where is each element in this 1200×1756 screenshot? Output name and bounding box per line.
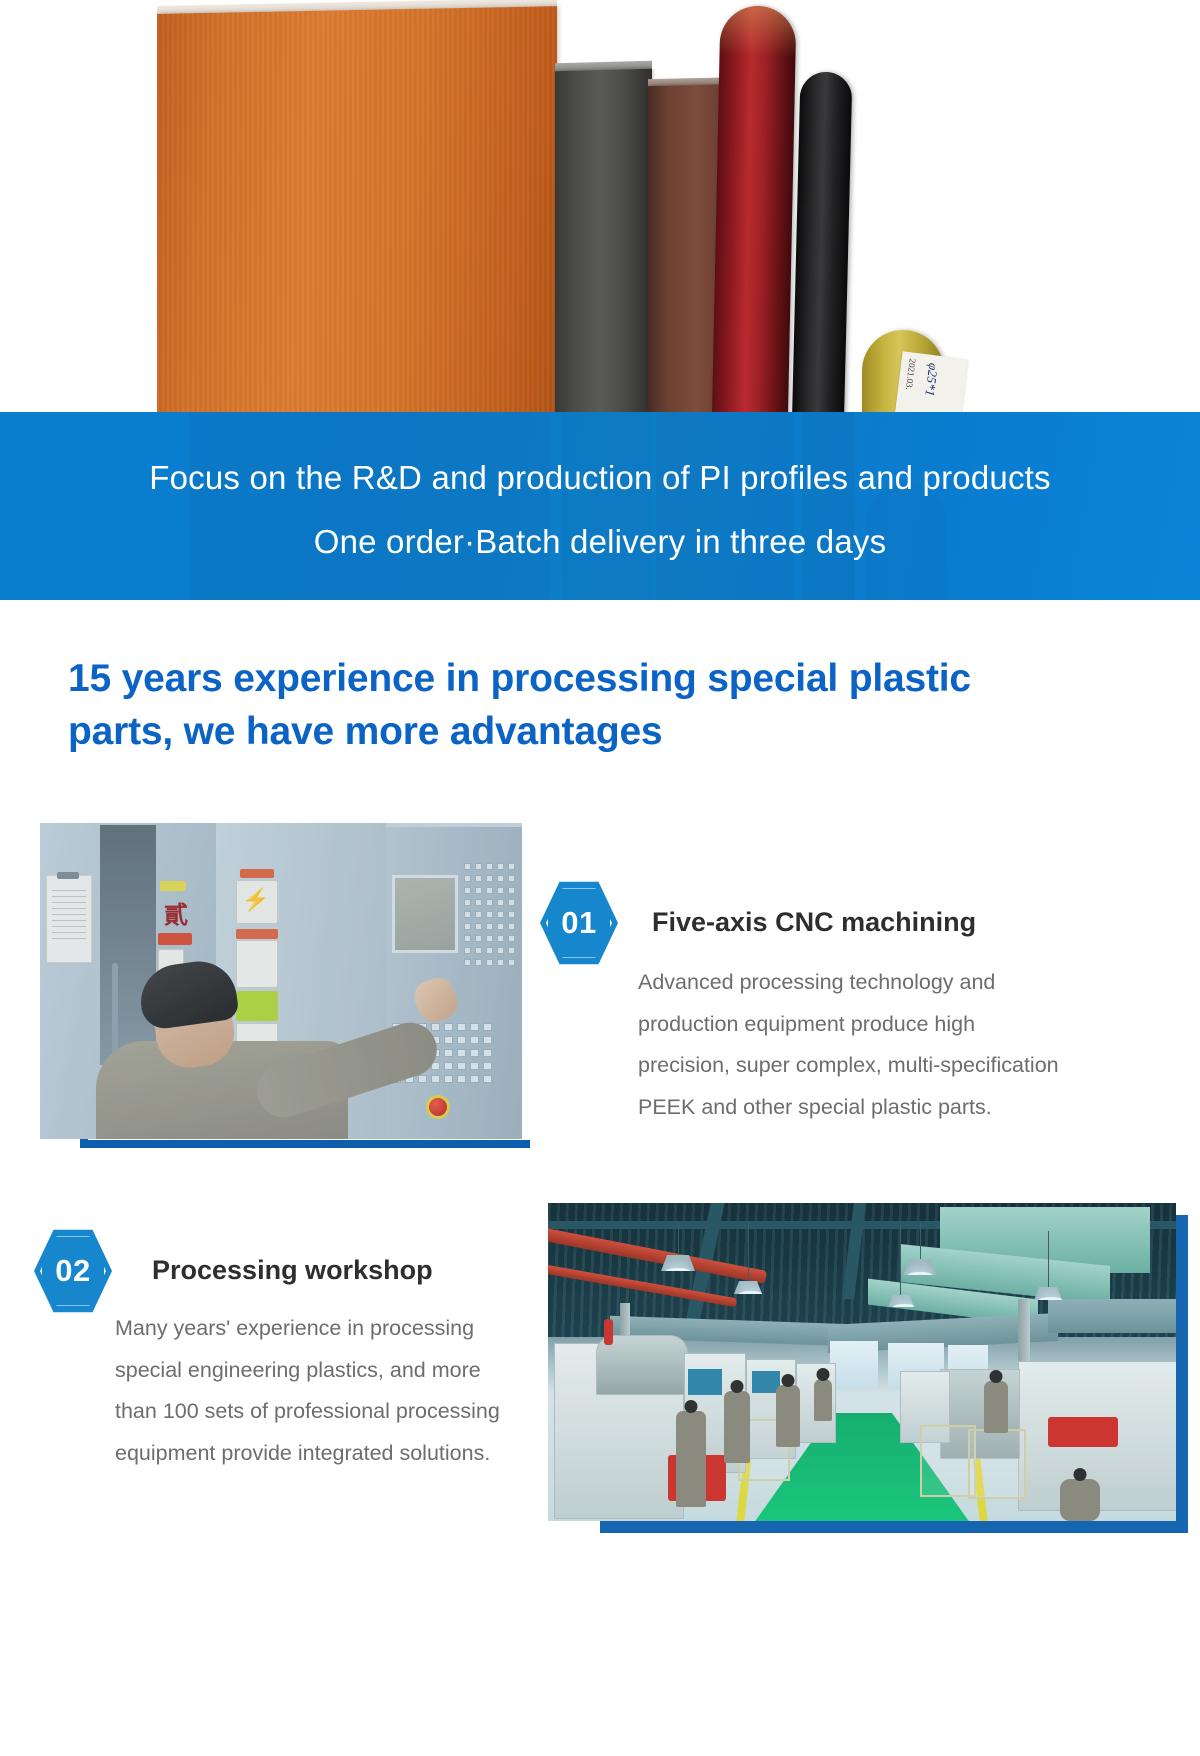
rod-label-spec: φ25*1 xyxy=(921,362,941,397)
banner-line-1: Focus on the R&D and production of PI pr… xyxy=(0,459,1200,497)
banner-ghost-overlay xyxy=(190,412,950,600)
rod-label-date: 2021.03. xyxy=(904,358,918,390)
tagline-banner: Focus on the R&D and production of PI pr… xyxy=(0,412,1200,600)
feature-01-number: 01 xyxy=(561,905,596,941)
feature-01-title: Five-axis CNC machining xyxy=(652,907,976,938)
black-rod xyxy=(792,71,853,440)
hero-product-photo: 2021.03. φ25*1 xyxy=(0,0,1200,440)
feature-01-body: Advanced processing technology and produ… xyxy=(638,962,1070,1129)
photo-frame-right-bar xyxy=(1176,1215,1188,1533)
photo-frame-bottom-bar xyxy=(80,1140,530,1148)
feature-01-photo-frame: 貳 ⚡ xyxy=(40,823,530,1148)
feature-02-number-badge: 02 xyxy=(34,1228,112,1314)
workshop-photo xyxy=(548,1203,1176,1521)
photo-frame-bottom-bar xyxy=(600,1521,1188,1533)
feature-02-number: 02 xyxy=(55,1253,90,1289)
feature-02-photo-frame xyxy=(548,1203,1188,1533)
grey-sheet xyxy=(555,69,652,440)
hero-image: 2021.03. φ25*1 xyxy=(0,0,1200,440)
feature-01-number-badge: 01 xyxy=(540,880,618,966)
feature-02-body: Many years' experience in processing spe… xyxy=(115,1308,523,1475)
feature-02-title: Processing workshop xyxy=(152,1255,433,1286)
banner-line-2: One order·Batch delivery in three days xyxy=(0,523,1200,561)
dark-red-rod xyxy=(711,5,796,440)
section-heading: 15 years experience in processing specia… xyxy=(68,652,1078,758)
cnc-machining-photo: 貳 ⚡ xyxy=(40,823,522,1139)
orange-phenolic-sheet xyxy=(157,6,557,440)
